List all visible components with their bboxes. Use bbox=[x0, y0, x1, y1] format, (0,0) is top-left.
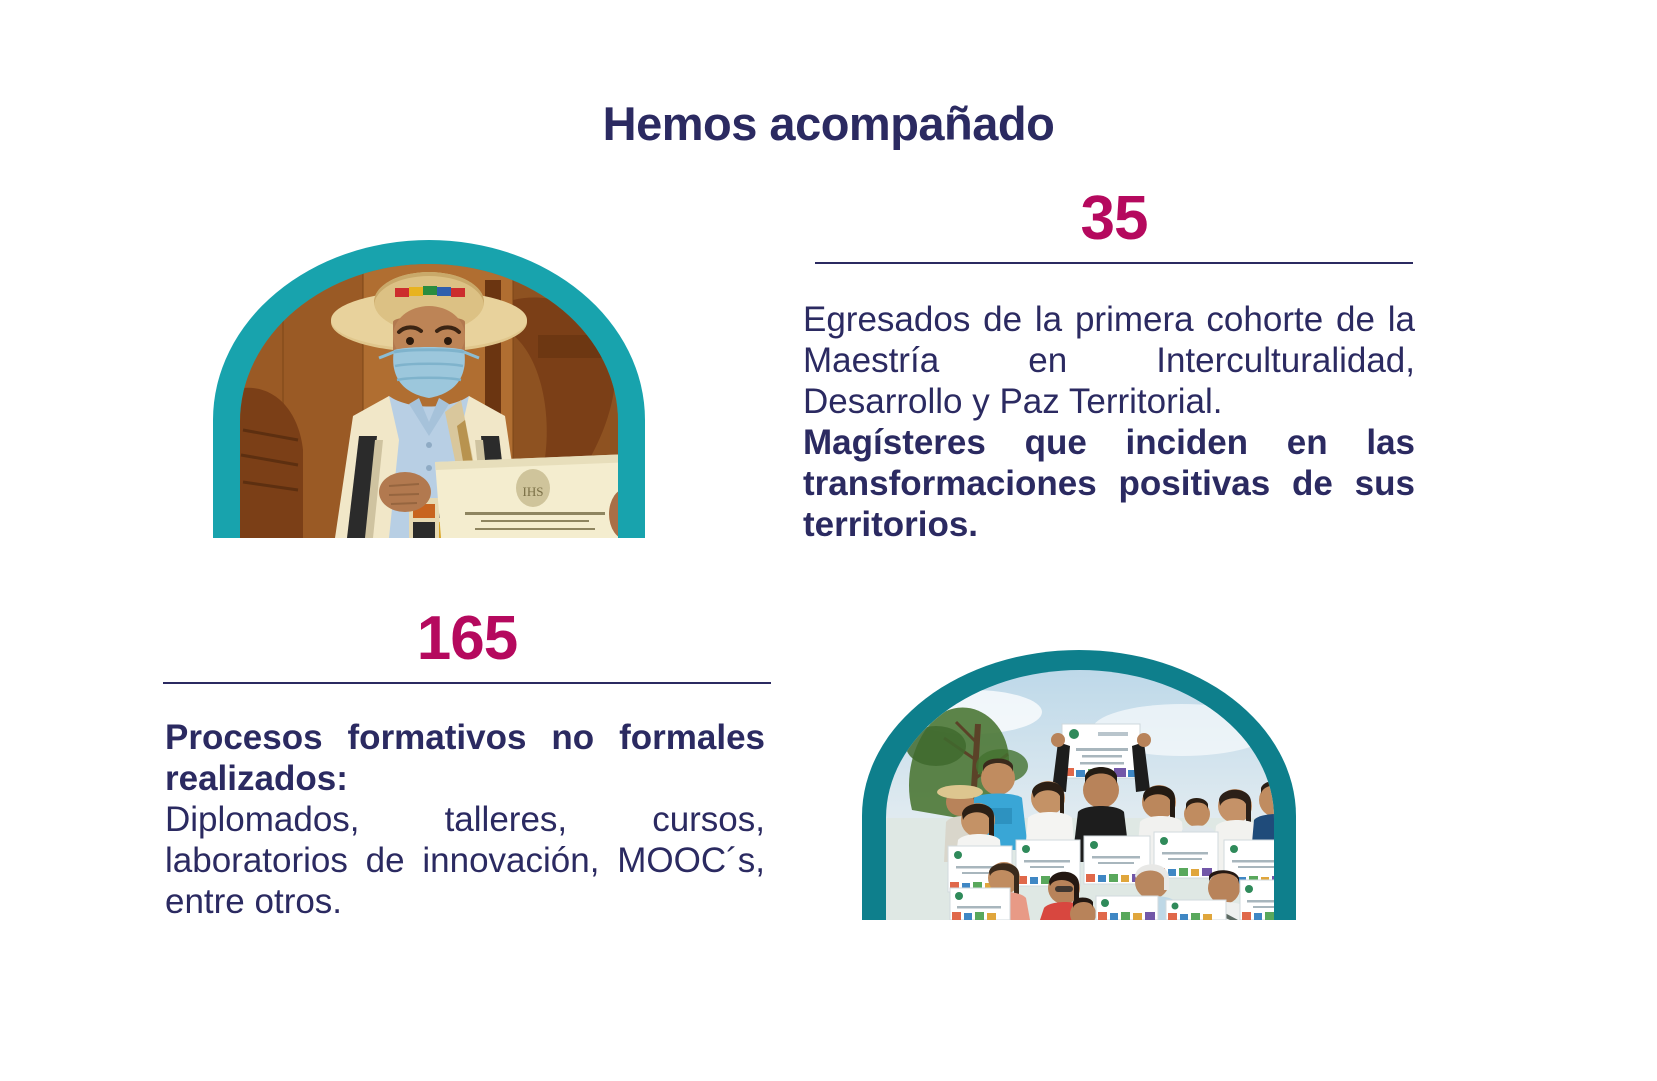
photo-graduate-illustration: IHS bbox=[213, 240, 645, 538]
page-title: Hemos acompañado bbox=[0, 96, 1657, 151]
stat-description-165-bold: Procesos formativos no formales realizad… bbox=[165, 718, 765, 800]
stat-value-35: 35 bbox=[815, 188, 1413, 250]
photo-group-illustration bbox=[852, 650, 1307, 920]
photo-graduate: IHS bbox=[213, 240, 645, 538]
stat-description-35: Egresados de la primera cohorte de la Ma… bbox=[803, 300, 1415, 546]
stat-divider-165 bbox=[163, 682, 771, 684]
photo-group bbox=[852, 650, 1307, 920]
svg-text:IHS: IHS bbox=[523, 484, 544, 499]
stat-divider-35 bbox=[815, 262, 1413, 264]
stat-description-35-bold: Magísteres que inciden en las transforma… bbox=[803, 423, 1415, 546]
stat-description-35-regular: Egresados de la primera cohorte de la Ma… bbox=[803, 300, 1415, 423]
stat-value-165: 165 bbox=[163, 608, 771, 670]
stat-description-165-regular: Diplomados, talleres, cursos, laboratori… bbox=[165, 800, 765, 923]
stat-description-165: Procesos formativos no formales realizad… bbox=[165, 718, 765, 923]
